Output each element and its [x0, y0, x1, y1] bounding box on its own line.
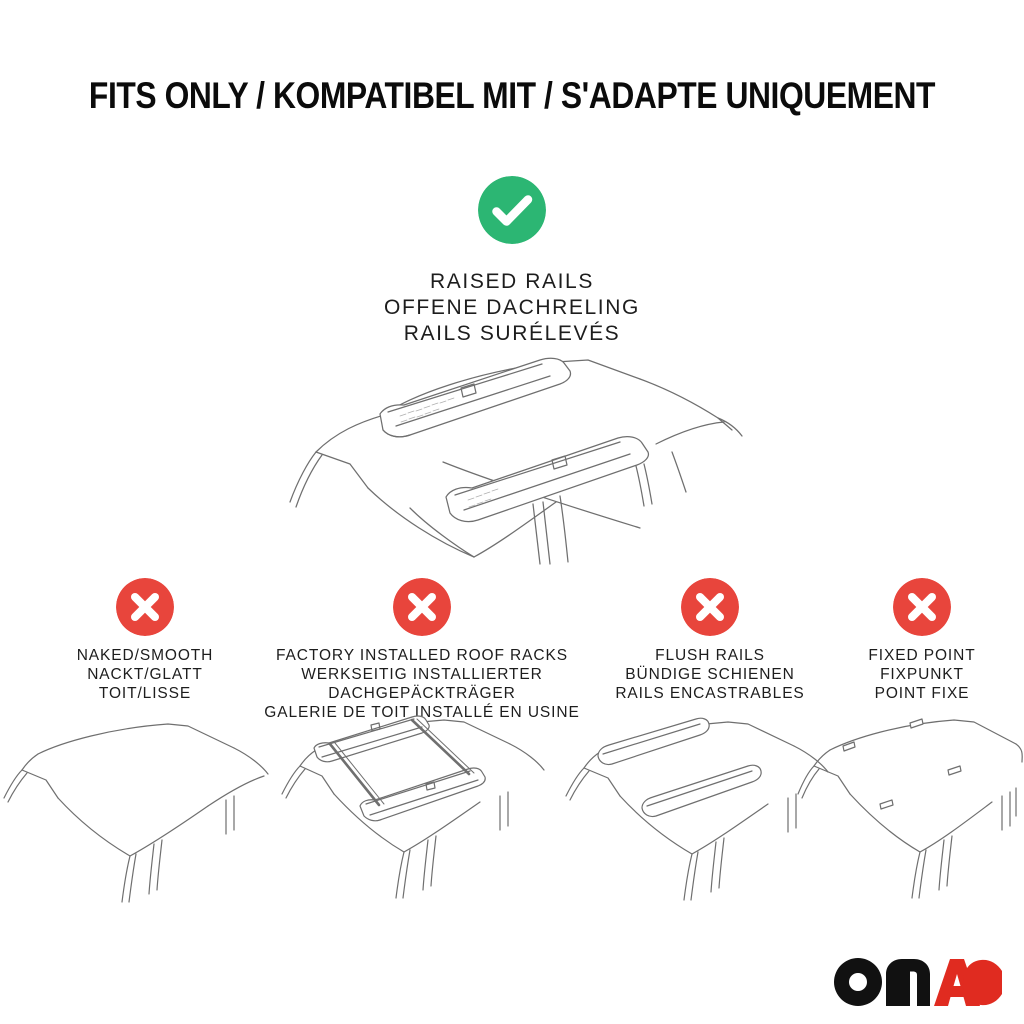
badge-wrap: [262, 578, 582, 640]
option-labels: FACTORY INSTALLED ROOF RACKS WERKSEITIG …: [262, 646, 582, 722]
option-labels: NAKED/SMOOTH NACKT/GLATT TOIT/LISSE: [28, 646, 262, 703]
logo-letter-c: [963, 960, 1002, 1005]
x-glyph: [116, 578, 174, 636]
option-factory-installed-roof-racks: FACTORY INSTALLED ROOF RACKS WERKSEITIG …: [262, 578, 582, 722]
compatible-label-fr: RAILS SURÉLEVÉS: [0, 321, 1024, 347]
option-flush-rails: FLUSH RAILS BÜNDIGE SCHIENEN RAILS ENCAS…: [590, 578, 830, 703]
compatible-labels: RAISED RAILS OFFENE DACHRELING RAILS SUR…: [0, 269, 1024, 347]
compatible-label-de: OFFENE DACHRELING: [0, 295, 1024, 321]
check-glyph: [478, 176, 546, 244]
x-circle-icon: [116, 578, 174, 636]
option-label-fr: TOIT/LISSE: [28, 684, 262, 703]
option-labels: FLUSH RAILS BÜNDIGE SCHIENEN RAILS ENCAS…: [590, 646, 830, 703]
option-label-de-1: WERKSEITIG INSTALLIERTER: [262, 665, 582, 684]
option-label-fr: POINT FIXE: [836, 684, 1008, 703]
option-fixed-point: FIXED POINT FIXPUNKT POINT FIXE: [836, 578, 1008, 703]
roof-thumbnails-row: [0, 714, 1024, 909]
compatible-section: RAISED RAILS OFFENE DACHRELING RAILS SUR…: [0, 176, 1024, 347]
omac-logo: [834, 956, 1002, 1010]
factory-racks-illustration: [272, 714, 562, 909]
check-circle-icon: [478, 176, 546, 244]
raised-rails-illustration: [288, 352, 748, 567]
option-label-de: NACKT/GLATT: [28, 665, 262, 684]
x-circle-icon: [681, 578, 739, 636]
badge-wrap: [836, 578, 1008, 640]
badge-wrap: [590, 578, 830, 640]
option-label-en: NAKED/SMOOTH: [28, 646, 262, 665]
badge-wrap: [28, 578, 262, 640]
x-glyph: [393, 578, 451, 636]
x-circle-icon: [393, 578, 451, 636]
option-label-fr: RAILS ENCASTRABLES: [590, 684, 830, 703]
compatible-label-en: RAISED RAILS: [0, 269, 1024, 295]
option-naked-smooth: NAKED/SMOOTH NACKT/GLATT TOIT/LISSE: [28, 578, 262, 703]
page-title: FITS ONLY / KOMPATIBEL MIT / S'ADAPTE UN…: [72, 74, 953, 118]
option-label-en: FLUSH RAILS: [590, 646, 830, 665]
naked-smooth-illustration: [2, 714, 270, 909]
option-label-en: FACTORY INSTALLED ROOF RACKS: [262, 646, 582, 665]
logo-letter-m: [886, 959, 930, 1006]
incompatible-options-row: NAKED/SMOOTH NACKT/GLATT TOIT/LISSE FACT…: [0, 578, 1024, 728]
option-label-de: BÜNDIGE SCHIENEN: [590, 665, 830, 684]
option-labels: FIXED POINT FIXPUNKT POINT FIXE: [836, 646, 1008, 703]
option-label-de-2: DACHGEPÄCKTRÄGER: [262, 684, 582, 703]
option-label-en: FIXED POINT: [836, 646, 1008, 665]
x-circle-icon: [893, 578, 951, 636]
x-glyph: [893, 578, 951, 636]
x-glyph: [681, 578, 739, 636]
logo-letter-o: [834, 958, 882, 1006]
option-label-de: FIXPUNKT: [836, 665, 1008, 684]
fixed-point-illustration: [796, 714, 1024, 909]
